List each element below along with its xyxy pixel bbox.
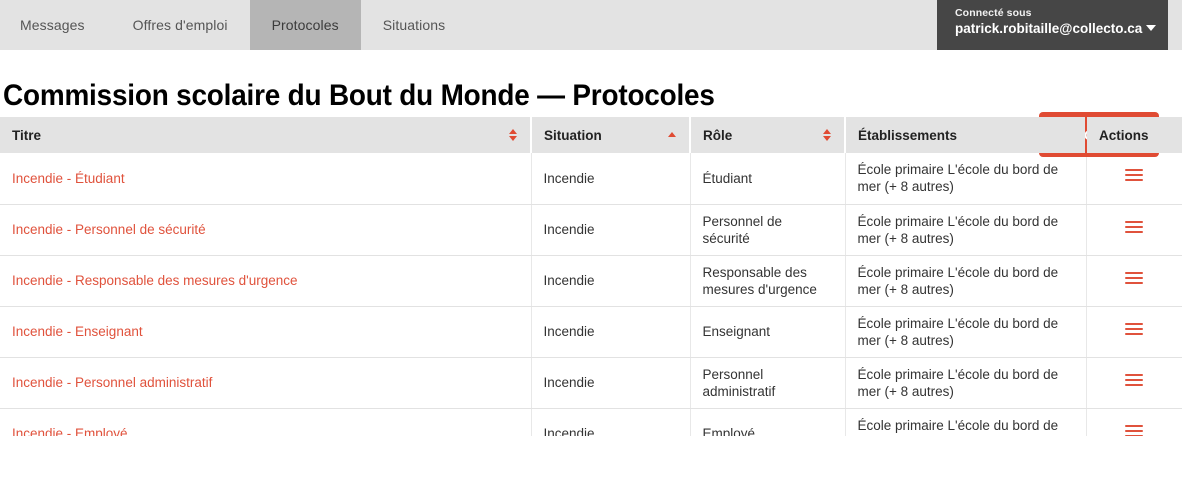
column-header-label: Rôle — [703, 128, 732, 143]
cell-titre: Incendie - Employé — [0, 408, 531, 436]
column-header-actions: Actions — [1086, 117, 1182, 153]
sort-ascending-icon[interactable] — [668, 128, 677, 142]
cell-titre: Incendie - Enseignant — [0, 306, 531, 357]
page-header: Commission scolaire du Bout du Monde — P… — [0, 50, 1182, 117]
protocol-link[interactable]: Incendie - Responsable des mesures d'urg… — [12, 273, 298, 288]
cell-titre: Incendie - Étudiant — [0, 153, 531, 204]
cell-etablissements: École primaire L'école du bord de mer (+… — [845, 408, 1086, 436]
cell-role: Employé — [690, 408, 845, 436]
column-header-label: Établissements — [858, 128, 957, 143]
protocol-link[interactable]: Incendie - Personnel de sécurité — [12, 222, 206, 237]
nav-tab-situations[interactable]: Situations — [361, 0, 467, 50]
chevron-down-icon — [1146, 25, 1156, 31]
cell-etablissements: École primaire L'école du bord de mer (+… — [845, 357, 1086, 408]
hamburger-menu-icon[interactable] — [1125, 272, 1143, 286]
protocol-link[interactable]: Incendie - Employé — [12, 426, 128, 436]
cell-situation: Incendie — [531, 357, 690, 408]
column-header-situation[interactable]: Situation — [531, 117, 690, 153]
column-header-label: Situation — [544, 128, 602, 143]
hamburger-menu-icon[interactable] — [1125, 169, 1143, 183]
cell-etablissements: École primaire L'école du bord de mer (+… — [845, 204, 1086, 255]
cell-situation: Incendie — [531, 408, 690, 436]
table-row: Incendie - Employé Incendie Employé Écol… — [0, 408, 1182, 436]
cell-actions — [1086, 153, 1182, 204]
cell-role: Responsable des mesures d'urgence — [690, 255, 845, 306]
cell-situation: Incendie — [531, 255, 690, 306]
cell-actions — [1086, 255, 1182, 306]
cell-role: Personnel de sécurité — [690, 204, 845, 255]
top-navbar: Messages Offres d'emploi Protocoles Situ… — [0, 0, 1182, 50]
cell-etablissements: École primaire L'école du bord de mer (+… — [845, 153, 1086, 204]
hamburger-menu-icon[interactable] — [1125, 323, 1143, 337]
nav-tab-protocoles[interactable]: Protocoles — [250, 0, 361, 50]
page-title: Commission scolaire du Bout du Monde — P… — [3, 79, 715, 113]
nav-tab-label: Situations — [383, 17, 445, 33]
nav-tab-list: Messages Offres d'emploi Protocoles Situ… — [0, 0, 467, 50]
protocols-table: Titre Situation Rôle Établissements — [0, 117, 1182, 436]
table-row: Incendie - Enseignant Incendie Enseignan… — [0, 306, 1182, 357]
cell-actions — [1086, 306, 1182, 357]
user-email: patrick.robitaille@collecto.ca — [955, 20, 1156, 38]
hamburger-menu-icon[interactable] — [1125, 374, 1143, 388]
table-row: Incendie - Personnel de sécurité Incendi… — [0, 204, 1182, 255]
table-row: Incendie - Étudiant Incendie Étudiant Éc… — [0, 153, 1182, 204]
column-header-label: Actions — [1099, 128, 1149, 143]
column-header-role[interactable]: Rôle — [690, 117, 845, 153]
cell-titre: Incendie - Personnel de sécurité — [0, 204, 531, 255]
nav-tab-label: Protocoles — [272, 17, 339, 33]
table-header: Titre Situation Rôle Établissements — [0, 117, 1182, 153]
cell-etablissements: École primaire L'école du bord de mer (+… — [845, 306, 1086, 357]
protocol-link[interactable]: Incendie - Étudiant — [12, 171, 125, 186]
table-header-row: Titre Situation Rôle Établissements — [0, 117, 1182, 153]
table-row: Incendie - Personnel administratif Incen… — [0, 357, 1182, 408]
cell-actions — [1086, 204, 1182, 255]
table-body: Incendie - Étudiant Incendie Étudiant Éc… — [0, 153, 1182, 436]
cell-role: Étudiant — [690, 153, 845, 204]
protocols-table-container: Titre Situation Rôle Établissements — [0, 117, 1182, 436]
connected-as-label: Connecté sous — [955, 6, 1156, 20]
column-header-etablissements: Établissements — [845, 117, 1086, 153]
cell-situation: Incendie — [531, 204, 690, 255]
user-account-menu[interactable]: Connecté sous patrick.robitaille@collect… — [937, 0, 1168, 50]
protocol-link[interactable]: Incendie - Enseignant — [12, 324, 143, 339]
cell-role: Enseignant — [690, 306, 845, 357]
hamburger-menu-icon[interactable] — [1125, 221, 1143, 235]
sort-toggle-icon[interactable] — [823, 128, 832, 142]
protocol-link[interactable]: Incendie - Personnel administratif — [12, 375, 212, 390]
cell-actions — [1086, 408, 1182, 436]
table-row: Incendie - Responsable des mesures d'urg… — [0, 255, 1182, 306]
nav-tab-offres-demploi[interactable]: Offres d'emploi — [111, 0, 250, 50]
cell-etablissements: École primaire L'école du bord de mer (+… — [845, 255, 1086, 306]
nav-tab-label: Offres d'emploi — [133, 17, 228, 33]
nav-tab-messages[interactable]: Messages — [0, 0, 111, 50]
cell-actions — [1086, 357, 1182, 408]
cell-role: Personnel administratif — [690, 357, 845, 408]
cell-titre: Incendie - Personnel administratif — [0, 357, 531, 408]
cell-situation: Incendie — [531, 306, 690, 357]
nav-tab-label: Messages — [20, 17, 85, 33]
column-header-titre[interactable]: Titre — [0, 117, 531, 153]
cell-situation: Incendie — [531, 153, 690, 204]
hamburger-menu-icon[interactable] — [1125, 425, 1143, 437]
cell-titre: Incendie - Responsable des mesures d'urg… — [0, 255, 531, 306]
user-email-text: patrick.robitaille@collecto.ca — [955, 21, 1142, 36]
sort-toggle-icon[interactable] — [509, 128, 518, 142]
column-header-label: Titre — [12, 128, 41, 143]
